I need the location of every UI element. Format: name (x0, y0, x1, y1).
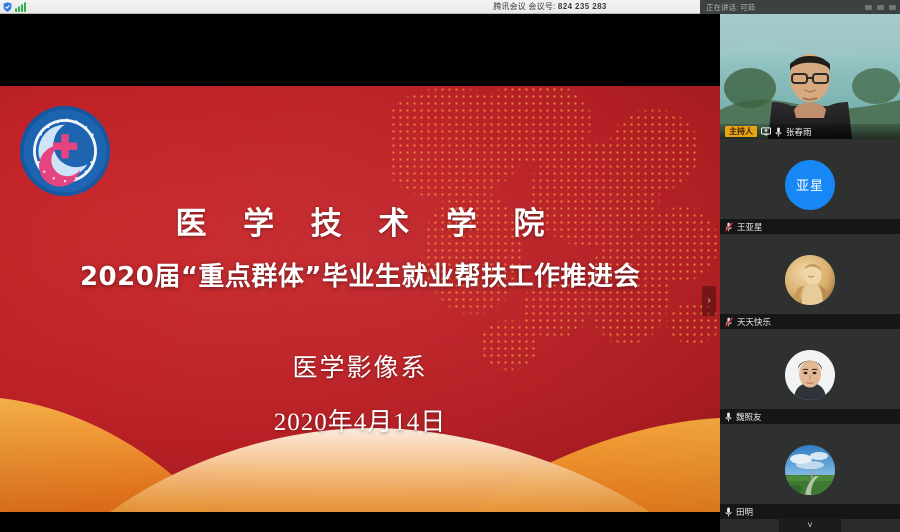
avatar (785, 350, 835, 400)
avatar (785, 255, 835, 305)
host-badge: 主持人 (725, 126, 757, 138)
shared-screen-stage[interactable]: 医 学 技 术 学 院 2020届“重点群体”毕业生就业帮扶工作推进会 医学影像… (0, 14, 720, 532)
presentation-slide[interactable]: 医 学 技 术 学 院 2020届“重点群体”毕业生就业帮扶工作推进会 医学影像… (0, 86, 720, 512)
participant-name-bar: 天天快乐 (720, 314, 900, 329)
slide-main-title: 医 学 技 术 学 院 (0, 198, 720, 243)
meeting-app-label: 腾讯会议 会议号: (493, 2, 555, 11)
participant-name-bar: 魏照友 (720, 409, 900, 424)
participant-name: 魏照友 (736, 411, 762, 423)
participant-video-feed (720, 14, 900, 139)
titlebar-left-icons (0, 2, 200, 12)
screen-share-icon (761, 127, 771, 136)
participant-tile[interactable]: 田明 (720, 424, 900, 519)
participant-name-bar: 王亚星 (720, 219, 900, 234)
avatar-image (785, 350, 835, 400)
participant-name-bar: 主持人 张春雨 (720, 124, 900, 139)
participant-name: 张春雨 (786, 126, 812, 138)
close-button[interactable] (889, 5, 896, 10)
maximize-button[interactable] (877, 5, 884, 10)
active-speaker-label: 正在讲话: 可茹 (706, 2, 755, 13)
avatar (785, 445, 835, 495)
participant-tile[interactable]: 主持人 张春雨 (720, 14, 900, 139)
participant-name: 王亚星 (737, 221, 763, 233)
microphone-icon (725, 412, 732, 422)
participant-tile[interactable]: 天天快乐 (720, 234, 900, 329)
microphone-muted-icon (725, 317, 733, 327)
participant-rail[interactable]: 主持人 张春雨 亚星 (720, 14, 900, 532)
slide-date: 2020年4月14日 (0, 402, 720, 438)
microphone-icon (725, 507, 732, 517)
next-slide-chevron-icon[interactable]: › (702, 286, 716, 316)
avatar-initials: 亚星 (785, 160, 835, 210)
window-controls (865, 5, 896, 10)
avatar-image (785, 255, 835, 305)
signal-bars-icon[interactable] (15, 2, 26, 12)
window-title-bar: 腾讯会议 会议号: 824 235 283 正在讲话: 可茹 (0, 0, 900, 14)
participant-name-bar: 田明 (720, 504, 900, 519)
participant-name: 田明 (736, 506, 753, 518)
meeting-number: 824 235 283 (558, 2, 607, 11)
avatar-image (785, 445, 835, 495)
participant-name: 天天快乐 (737, 316, 771, 328)
participant-tile[interactable]: 亚星 王亚星 (720, 139, 900, 234)
college-logo-icon (18, 104, 112, 198)
security-shield-icon[interactable] (3, 2, 12, 12)
microphone-muted-icon (725, 222, 733, 232)
minimize-button[interactable] (865, 5, 872, 10)
participant-tile[interactable]: 魏照友 (720, 329, 900, 424)
slide-department: 医学影像系 (0, 348, 720, 384)
titlebar-right-zone: 正在讲话: 可茹 (700, 0, 900, 14)
tencent-meeting-window: 腾讯会议 会议号: 824 235 283 正在讲话: 可茹 (0, 0, 900, 532)
chevron-down-icon[interactable]: ˅ (779, 518, 841, 532)
microphone-icon (775, 127, 782, 137)
slide-subtitle: 2020届“重点群体”毕业生就业帮扶工作推进会 (0, 256, 720, 293)
